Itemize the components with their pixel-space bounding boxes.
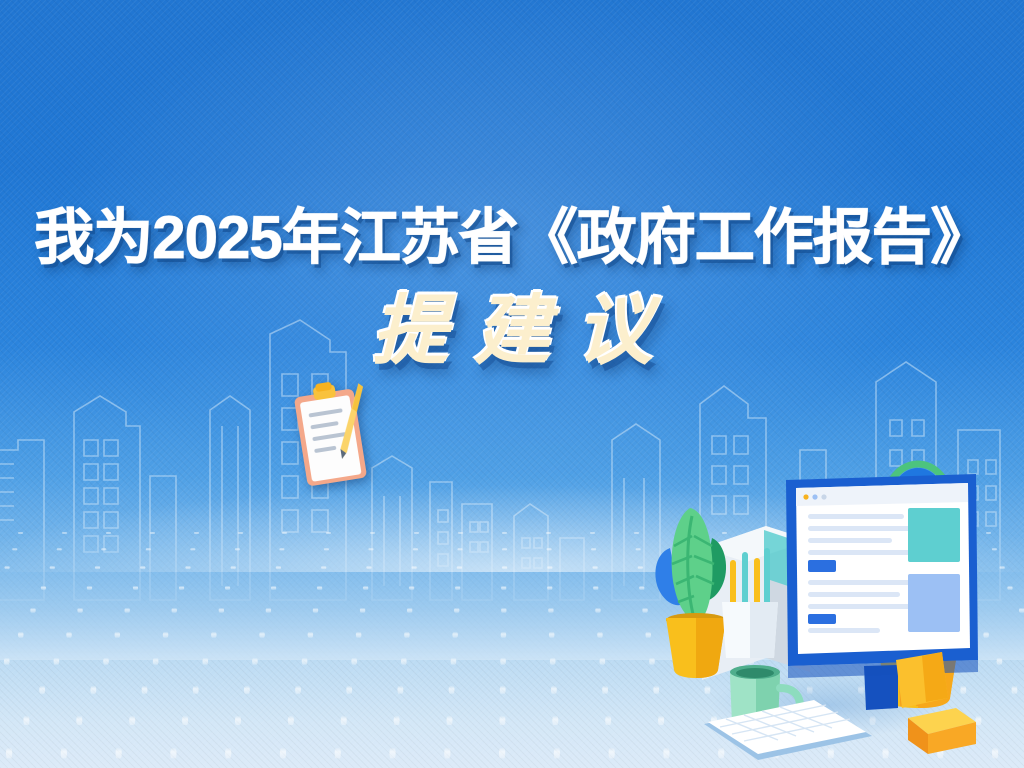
screen-button-bottom (808, 614, 836, 624)
screen-image-teal (908, 508, 960, 562)
clipboard-icon (288, 377, 377, 491)
headline-line-1: 我为2025年江苏省《政府工作报告》 (0, 206, 1024, 270)
desk-illustration (646, 452, 1024, 768)
screen-button-top (808, 560, 836, 572)
keyboard-icon (704, 700, 872, 760)
poster-banner: 我为2025年江苏省《政府工作报告》 提建议 (0, 0, 1024, 768)
screen-image-blue (908, 574, 960, 632)
headline-block: 我为2025年江苏省《政府工作报告》 提建议 (0, 206, 1024, 390)
headline-line-2-wrapper: 提建议 (0, 294, 1024, 390)
potted-plant-icon (655, 508, 726, 678)
headline-line-2: 提建议 (0, 294, 1024, 370)
